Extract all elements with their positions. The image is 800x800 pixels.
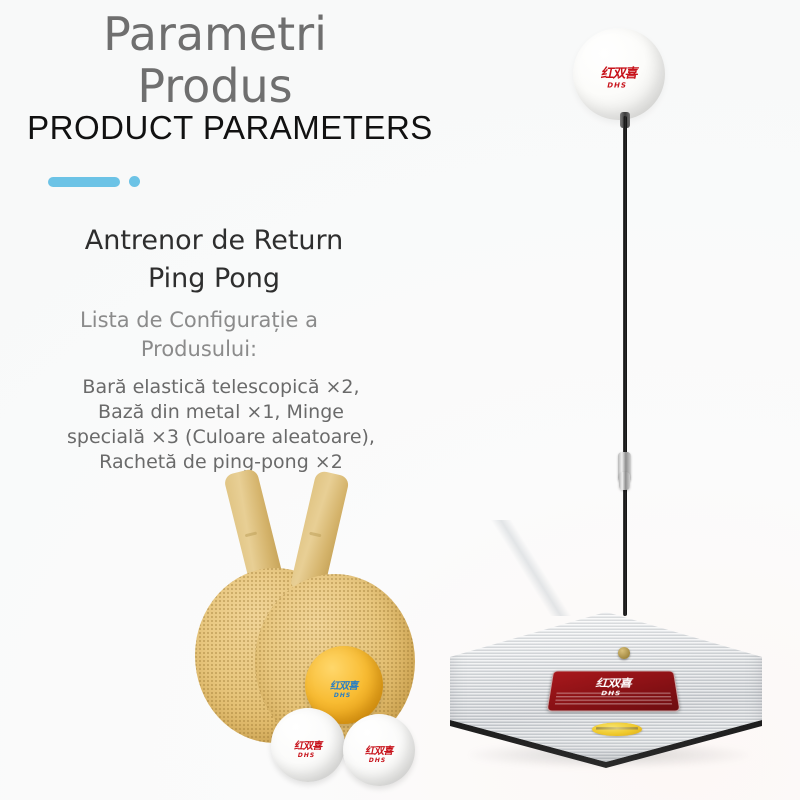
base-yellow-sticker-strip [596,727,638,729]
product-parameters-banner: Parametri Produs PRODUCT PARAMETERS Antr… [0,0,800,800]
product-name-line1: Antrenor de Return [14,222,414,260]
orange-ball-logo: 红双喜 DHS [328,677,360,699]
accent-bar [48,177,120,187]
ping-pong-trainer-photo: 红双喜 DHS 红双喜 DHS [440,0,800,800]
telescopic-elastic-rod [623,116,627,616]
accent-dot [129,176,140,187]
trainer-practice-ball: 红双喜 DHS [573,28,665,120]
page-title: Parametri Produs [0,8,430,112]
accent-divider [48,176,140,187]
practice-ball-white-left: 红双喜 DHS [271,708,345,782]
practice-ball-white-right: 红双喜 DHS [343,714,415,786]
product-name: Antrenor de Return Ping Pong [14,222,414,298]
base-brand-label: 红双喜 DHS [546,671,680,712]
configuration-list: Bară elastică telescopică ×2, Bază din m… [26,375,416,475]
configuration-item-line1: Bară elastică telescopică ×2, [26,375,416,400]
white-ball-right-logo: 红双喜 DHS [363,742,395,764]
product-name-line2: Ping Pong [14,260,414,298]
configuration-label-line2: Produsului: [14,335,384,364]
configuration-list-label: Lista de Configurație a Produsului: [14,306,384,364]
metal-base: 红双喜 DHS [440,600,800,780]
page-subtitle-english: PRODUCT PARAMETERS [0,108,460,148]
base-label-fineprint [555,693,673,707]
telescopic-joint-lower [619,472,630,490]
white-ball-left-logo: 红双喜 DHS [292,737,324,759]
configuration-item-line3: specială ×3 (Culoare aleatoare), [26,425,416,450]
configuration-item-line2: Bază din metal ×1, Minge [26,400,416,425]
page-title-line1: Parametri [0,8,430,60]
configuration-label-line1: Lista de Configurație a [14,306,384,335]
rackets-and-balls-photo: 红双喜 DHS 红双喜 DHS 红双喜 DHS [195,470,445,790]
page-title-line2: Produs [0,60,430,112]
base-rod-mount [618,647,630,659]
trainer-ball-logo: 红双喜 DHS [598,62,640,89]
text-column: Parametri Produs PRODUCT PARAMETERS Antr… [0,0,470,480]
